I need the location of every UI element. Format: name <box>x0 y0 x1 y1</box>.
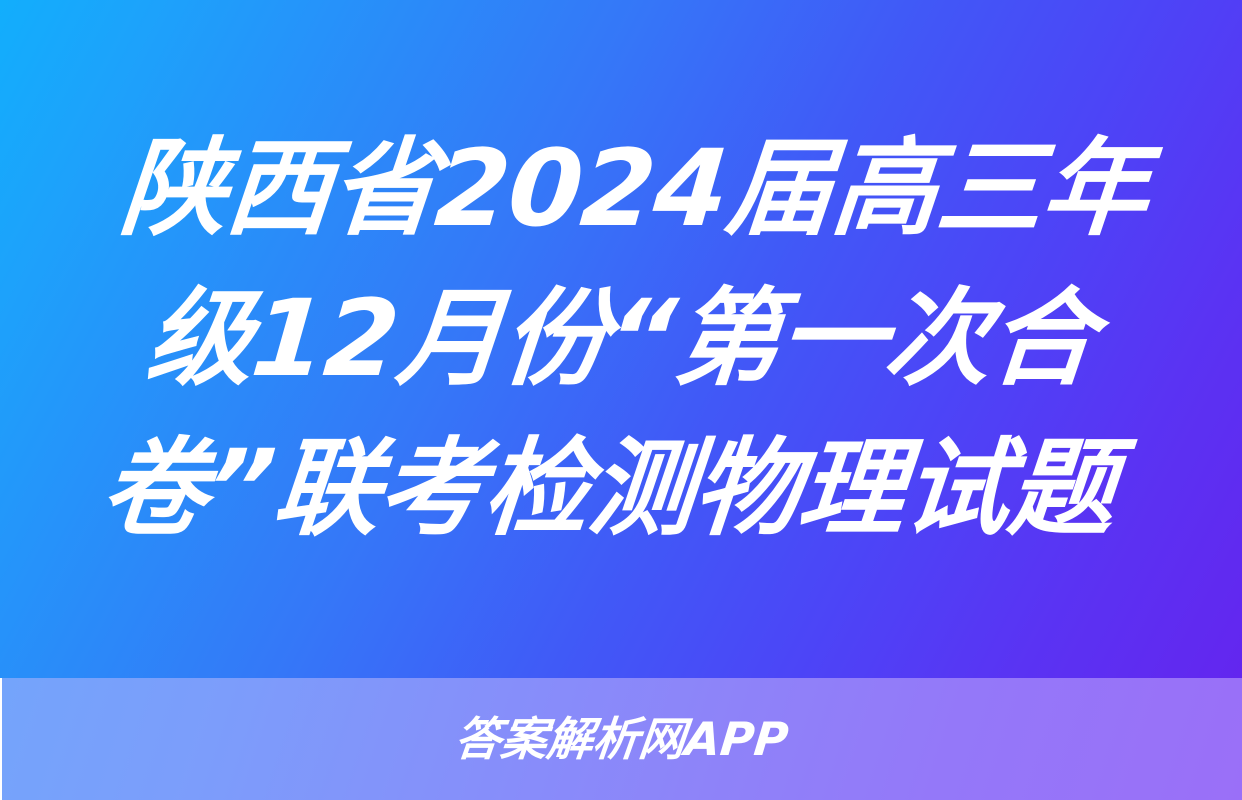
page-title: 陕西省2024届高三年级12月份“第一次合卷”联考检测物理试题 <box>56 114 1185 564</box>
watermark-band: 答案解析网APP <box>2 678 1242 800</box>
watermark-label: 答案解析网APP <box>453 716 791 762</box>
title-hero-banner: 陕西省2024届高三年级12月份“第一次合卷”联考检测物理试题 <box>0 0 1242 678</box>
exam-cover-image: 陕西省2024届高三年级12月份“第一次合卷”联考检测物理试题 答案解析网APP <box>0 0 1242 800</box>
